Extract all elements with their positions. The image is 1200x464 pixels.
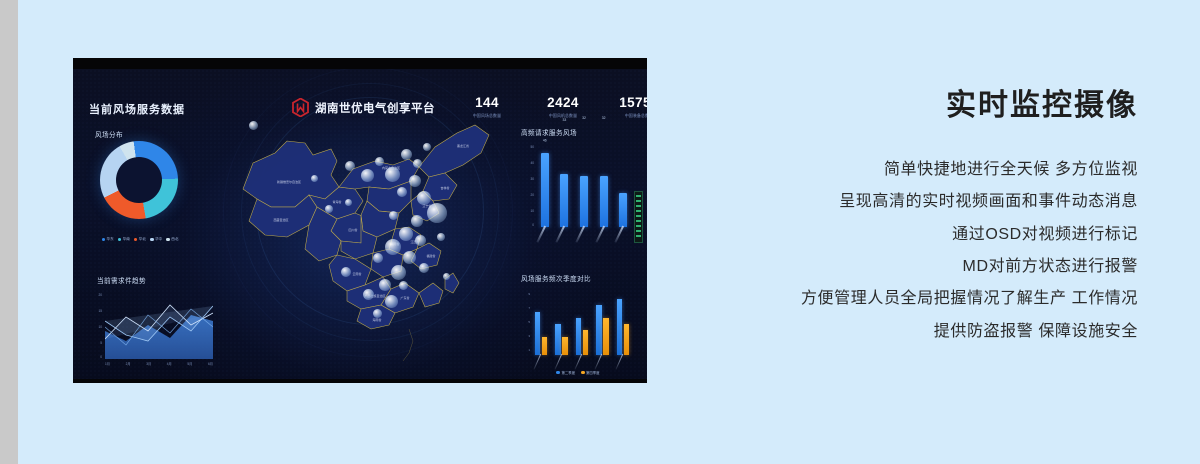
- bar-stem: [595, 226, 604, 243]
- y-tick: 20: [98, 293, 102, 297]
- y-tick: 0: [100, 355, 102, 359]
- screen-letterbox-bottom: [73, 379, 647, 383]
- bar: [619, 193, 627, 227]
- high-frequency-bar-chart: 50 40 30 20 10 0 46 33 32: [519, 135, 637, 247]
- map-data-point: [389, 211, 398, 220]
- bar-group: [535, 293, 548, 355]
- map-data-point: [391, 265, 406, 280]
- y-tick: 20: [530, 193, 534, 197]
- map-data-point: [437, 233, 445, 241]
- bar-q4: [583, 330, 589, 355]
- trend-chart-title: 当前需求件趋势: [97, 275, 146, 285]
- map-data-point: [417, 191, 431, 205]
- feature-list-item: 简单快捷地进行全天候 多方位监视: [708, 154, 1138, 186]
- bar-series: 46 33 32 32 21: [535, 147, 633, 227]
- grouped-bar-series: [531, 293, 633, 355]
- bar-q4: [562, 337, 568, 355]
- bar-column: 32: [599, 147, 608, 227]
- map-data-point: [419, 263, 429, 273]
- legend-label: 第二季度: [561, 370, 575, 375]
- map-data-point: [397, 187, 407, 197]
- bar-stem: [554, 354, 562, 370]
- map-data-point: [443, 273, 450, 280]
- y-tick: 1: [528, 348, 530, 352]
- bar-column: 32: [579, 147, 588, 227]
- screen-letterbox-top: [73, 58, 647, 69]
- china-map[interactable]: 新疆维吾尔自治区 西藏自治区 青海省 四川省 内蒙古自治区 黑龙江省 吉林省 辽…: [213, 103, 523, 373]
- donut-legend: 华东 华南 华北 华中 西北: [85, 237, 195, 242]
- map-data-point: [399, 281, 408, 290]
- bar-value-label: 46: [543, 139, 547, 146]
- map-data-point: [345, 199, 352, 206]
- y-tick: 40: [530, 161, 534, 165]
- feature-list-item: MD对前方状态进行报警: [708, 251, 1138, 283]
- status-gauge-indicator: [634, 191, 643, 243]
- bar-group: [555, 293, 568, 355]
- feature-list-item: 提供防盗报警 保障设施安全: [708, 316, 1138, 348]
- map-data-point: [345, 161, 355, 171]
- x-tick: 2月: [126, 361, 131, 366]
- svg-text:新疆维吾尔自治区: 新疆维吾尔自治区: [277, 179, 301, 184]
- svg-text:广东省: 广东省: [400, 295, 409, 300]
- bar-group: [596, 293, 609, 355]
- legend-item: 华南: [118, 237, 130, 242]
- map-data-point: [363, 289, 374, 300]
- map-data-point: [385, 167, 400, 182]
- legend-item: 华东: [102, 237, 114, 242]
- map-data-point: [375, 157, 384, 166]
- bar-q2: [535, 312, 541, 355]
- dashboard-canvas: 当前风场服务数据 湖南世优电气创享平台 144 中国风场总数量 2424 中国风…: [73, 69, 647, 379]
- trend-x-axis: 1月 2月 3月 4月 5月 6月: [105, 361, 213, 366]
- page-title: 实时监控摄像: [708, 88, 1138, 124]
- page-left-edge-strip: [0, 0, 18, 464]
- trend-area-chart: 20 15 10 5 0 1月 2月: [91, 285, 217, 373]
- bar-stem: [615, 354, 623, 370]
- map-data-point: [415, 235, 426, 246]
- bar-column: 46: [540, 147, 549, 227]
- svg-text:四川省: 四川省: [348, 227, 357, 232]
- bar: [580, 176, 588, 227]
- map-data-point: [311, 175, 318, 182]
- dashboard-screen: 当前风场服务数据 湖南世优电气创享平台 144 中国风场总数量 2424 中国风…: [73, 58, 647, 383]
- bar-q4: [542, 337, 548, 355]
- y-tick: 30: [530, 177, 534, 181]
- bar-value-label: 32: [602, 116, 606, 146]
- quarter-compare-bar-chart: 9 7 5 3 1: [519, 281, 637, 379]
- feature-description-block: 实时监控摄像 简单快捷地进行全天候 多方位监视 呈现高清的实时视频画面和事件动态…: [708, 88, 1138, 348]
- trend-plot: [105, 297, 213, 359]
- x-tick: 3月: [146, 361, 151, 366]
- bar-q2: [617, 299, 623, 355]
- bar-group: [576, 293, 589, 355]
- legend-label: 华南: [123, 237, 130, 242]
- legend-label: 第四季度: [586, 370, 600, 375]
- bar-stem: [595, 354, 603, 370]
- feature-list: 简单快捷地进行全天候 多方位监视 呈现高清的实时视频画面和事件动态消息 通过OS…: [708, 154, 1138, 348]
- map-data-point: [325, 205, 333, 213]
- legend-item: 华北: [134, 237, 146, 242]
- bar: [560, 174, 568, 227]
- bar-stem: [534, 354, 542, 370]
- bar: [541, 153, 549, 227]
- x-tick: 1月: [105, 361, 110, 366]
- x-tick: 5月: [187, 361, 192, 366]
- donut-chart: [95, 141, 183, 229]
- bar-q2: [596, 305, 602, 355]
- stat-value: 2424: [541, 95, 585, 111]
- map-data-point: [249, 121, 258, 130]
- feature-list-item: 呈现高清的实时视频画面和事件动态消息: [708, 186, 1138, 218]
- y-tick: 50: [530, 145, 534, 149]
- map-data-point: [403, 251, 416, 264]
- svg-text:福建省: 福建省: [426, 253, 435, 258]
- bar-stem: [556, 226, 565, 243]
- y-tick: 0: [532, 223, 534, 227]
- quarter-legend: 第二季度 第四季度: [519, 370, 637, 375]
- map-data-point: [385, 295, 398, 308]
- map-data-point: [373, 253, 383, 263]
- map-data-point: [399, 227, 413, 241]
- map-data-point: [373, 309, 382, 318]
- bar-stem: [536, 226, 545, 243]
- map-data-point: [385, 239, 401, 255]
- legend-label: 华北: [139, 237, 146, 242]
- bar-column: 21: [619, 147, 628, 227]
- bar-column: 33: [560, 147, 569, 227]
- stat-card: 2424 中国风机总数量: [541, 95, 585, 119]
- legend-item: 华中: [150, 237, 162, 242]
- y-tick: 5: [100, 341, 102, 345]
- svg-text:云南省: 云南省: [352, 271, 361, 276]
- bar: [600, 176, 608, 227]
- svg-text:黑龙江省: 黑龙江省: [457, 143, 469, 148]
- bar-stem: [575, 226, 584, 243]
- bar-q2: [555, 324, 561, 355]
- y-tick: 9: [528, 292, 530, 296]
- y-tick: 10: [530, 209, 534, 213]
- china-map-svg: 新疆维吾尔自治区 西藏自治区 青海省 四川省 内蒙古自治区 黑龙江省 吉林省 辽…: [213, 103, 523, 373]
- legend-label: 华中: [155, 237, 162, 242]
- x-tick: 4月: [167, 361, 172, 366]
- map-data-point: [411, 215, 423, 227]
- bar-group: [617, 293, 630, 355]
- donut-ring: [100, 141, 178, 219]
- y-tick: 7: [528, 306, 530, 310]
- trend-y-axis: 20 15 10 5 0: [91, 295, 103, 359]
- dashboard-title: 当前风场服务数据: [89, 101, 185, 117]
- legend-item: 第二季度: [556, 370, 575, 375]
- map-data-point: [379, 279, 391, 291]
- bar-stem: [574, 354, 582, 370]
- feature-list-item: 方便管理人员全局把握情况了解生产 工作情况: [708, 283, 1138, 315]
- bar-q4: [624, 324, 630, 355]
- svg-text:西藏自治区: 西藏自治区: [273, 217, 288, 222]
- map-data-point: [423, 143, 431, 151]
- y-tick: 3: [528, 334, 530, 338]
- y-tick: 10: [98, 325, 102, 329]
- bar2-y-axis: 9 7 5 3 1: [519, 293, 530, 355]
- legend-item: 第四季度: [581, 370, 600, 375]
- y-tick: 5: [528, 320, 530, 324]
- legend-item: 西北: [166, 237, 178, 242]
- svg-text:青海省: 青海省: [332, 199, 341, 204]
- map-data-point: [413, 159, 422, 168]
- svg-text:吉林省: 吉林省: [440, 185, 449, 190]
- donut-chart-title: 风场分布: [95, 129, 123, 139]
- map-data-point: [361, 169, 374, 182]
- bar-stem: [615, 226, 624, 243]
- bar-y-axis: 50 40 30 20 10 0: [521, 147, 534, 227]
- bar-value-label: 32: [582, 116, 586, 146]
- map-data-point: [341, 267, 351, 277]
- y-tick: 15: [98, 309, 102, 313]
- legend-label: 华东: [107, 237, 114, 242]
- bar-value-label: 21: [621, 99, 625, 146]
- bar-value-label: 33: [563, 118, 567, 146]
- feature-list-item: 通过OSD对视频进行标记: [708, 219, 1138, 251]
- bar-q2: [576, 318, 582, 355]
- bar-q4: [603, 318, 609, 355]
- map-data-point: [427, 203, 447, 223]
- legend-label: 西北: [171, 237, 178, 242]
- map-data-point: [409, 175, 421, 187]
- map-data-point: [401, 149, 412, 160]
